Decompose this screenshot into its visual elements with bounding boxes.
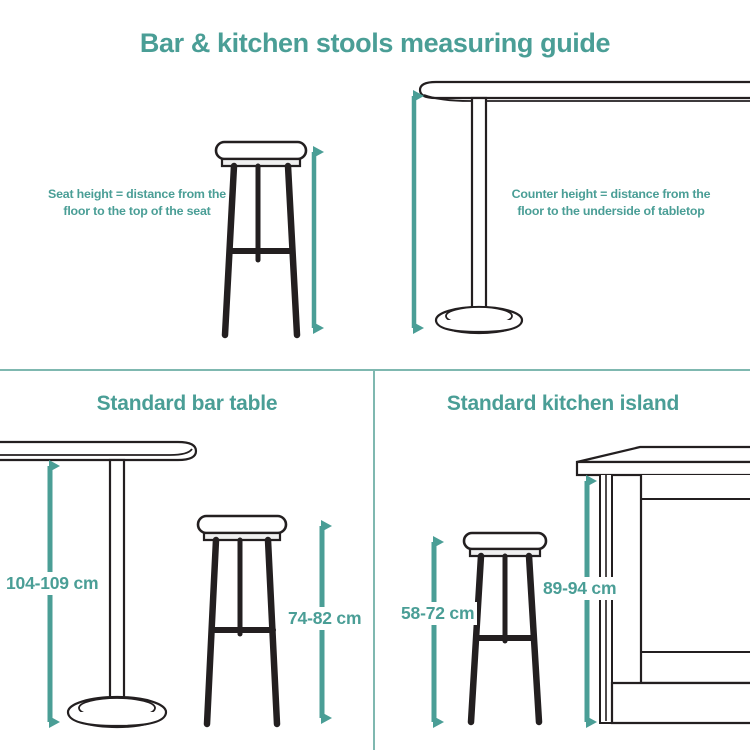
counter-stool-illustration xyxy=(464,533,546,722)
table-column xyxy=(472,98,486,315)
table-base-rim xyxy=(436,320,522,332)
illustration-canvas xyxy=(0,0,750,750)
bar-table-top-slab xyxy=(0,442,196,460)
heading-standard-bar-table: Standard bar table xyxy=(0,392,374,416)
counter-stool-seat-top xyxy=(464,533,546,549)
bar-table-base-rim xyxy=(68,712,166,726)
page-title: Bar & kitchen stools measuring guide xyxy=(0,28,750,59)
island-toe-kick xyxy=(612,683,750,723)
kitchen-island-height-label: 89-94 cm xyxy=(540,577,619,600)
bar-stool-seat-height-label: 74-82 cm xyxy=(285,607,364,630)
island-counter-top-surface xyxy=(577,447,750,462)
heading-standard-kitchen-island: Standard kitchen island xyxy=(376,392,750,416)
seat-height-caption: Seat height = distance from the floor to… xyxy=(42,186,232,219)
bar-stool-illustration-top xyxy=(216,142,306,335)
bar-stool-illustration-bottom xyxy=(198,516,286,724)
bar-table-height-label: 104-109 cm xyxy=(3,572,101,595)
counter-height-caption: Counter height = distance from the floor… xyxy=(508,186,714,219)
bar-table-column xyxy=(110,460,124,709)
table-top-slab xyxy=(420,82,750,98)
bar-stool-seat-top xyxy=(198,516,286,533)
infographic-page: Bar & kitchen stools measuring guide Sea… xyxy=(0,0,750,750)
island-counter-edge xyxy=(577,462,750,475)
stool-seat-top xyxy=(216,142,306,159)
counter-stool-seat-height-label: 58-72 cm xyxy=(398,602,477,625)
